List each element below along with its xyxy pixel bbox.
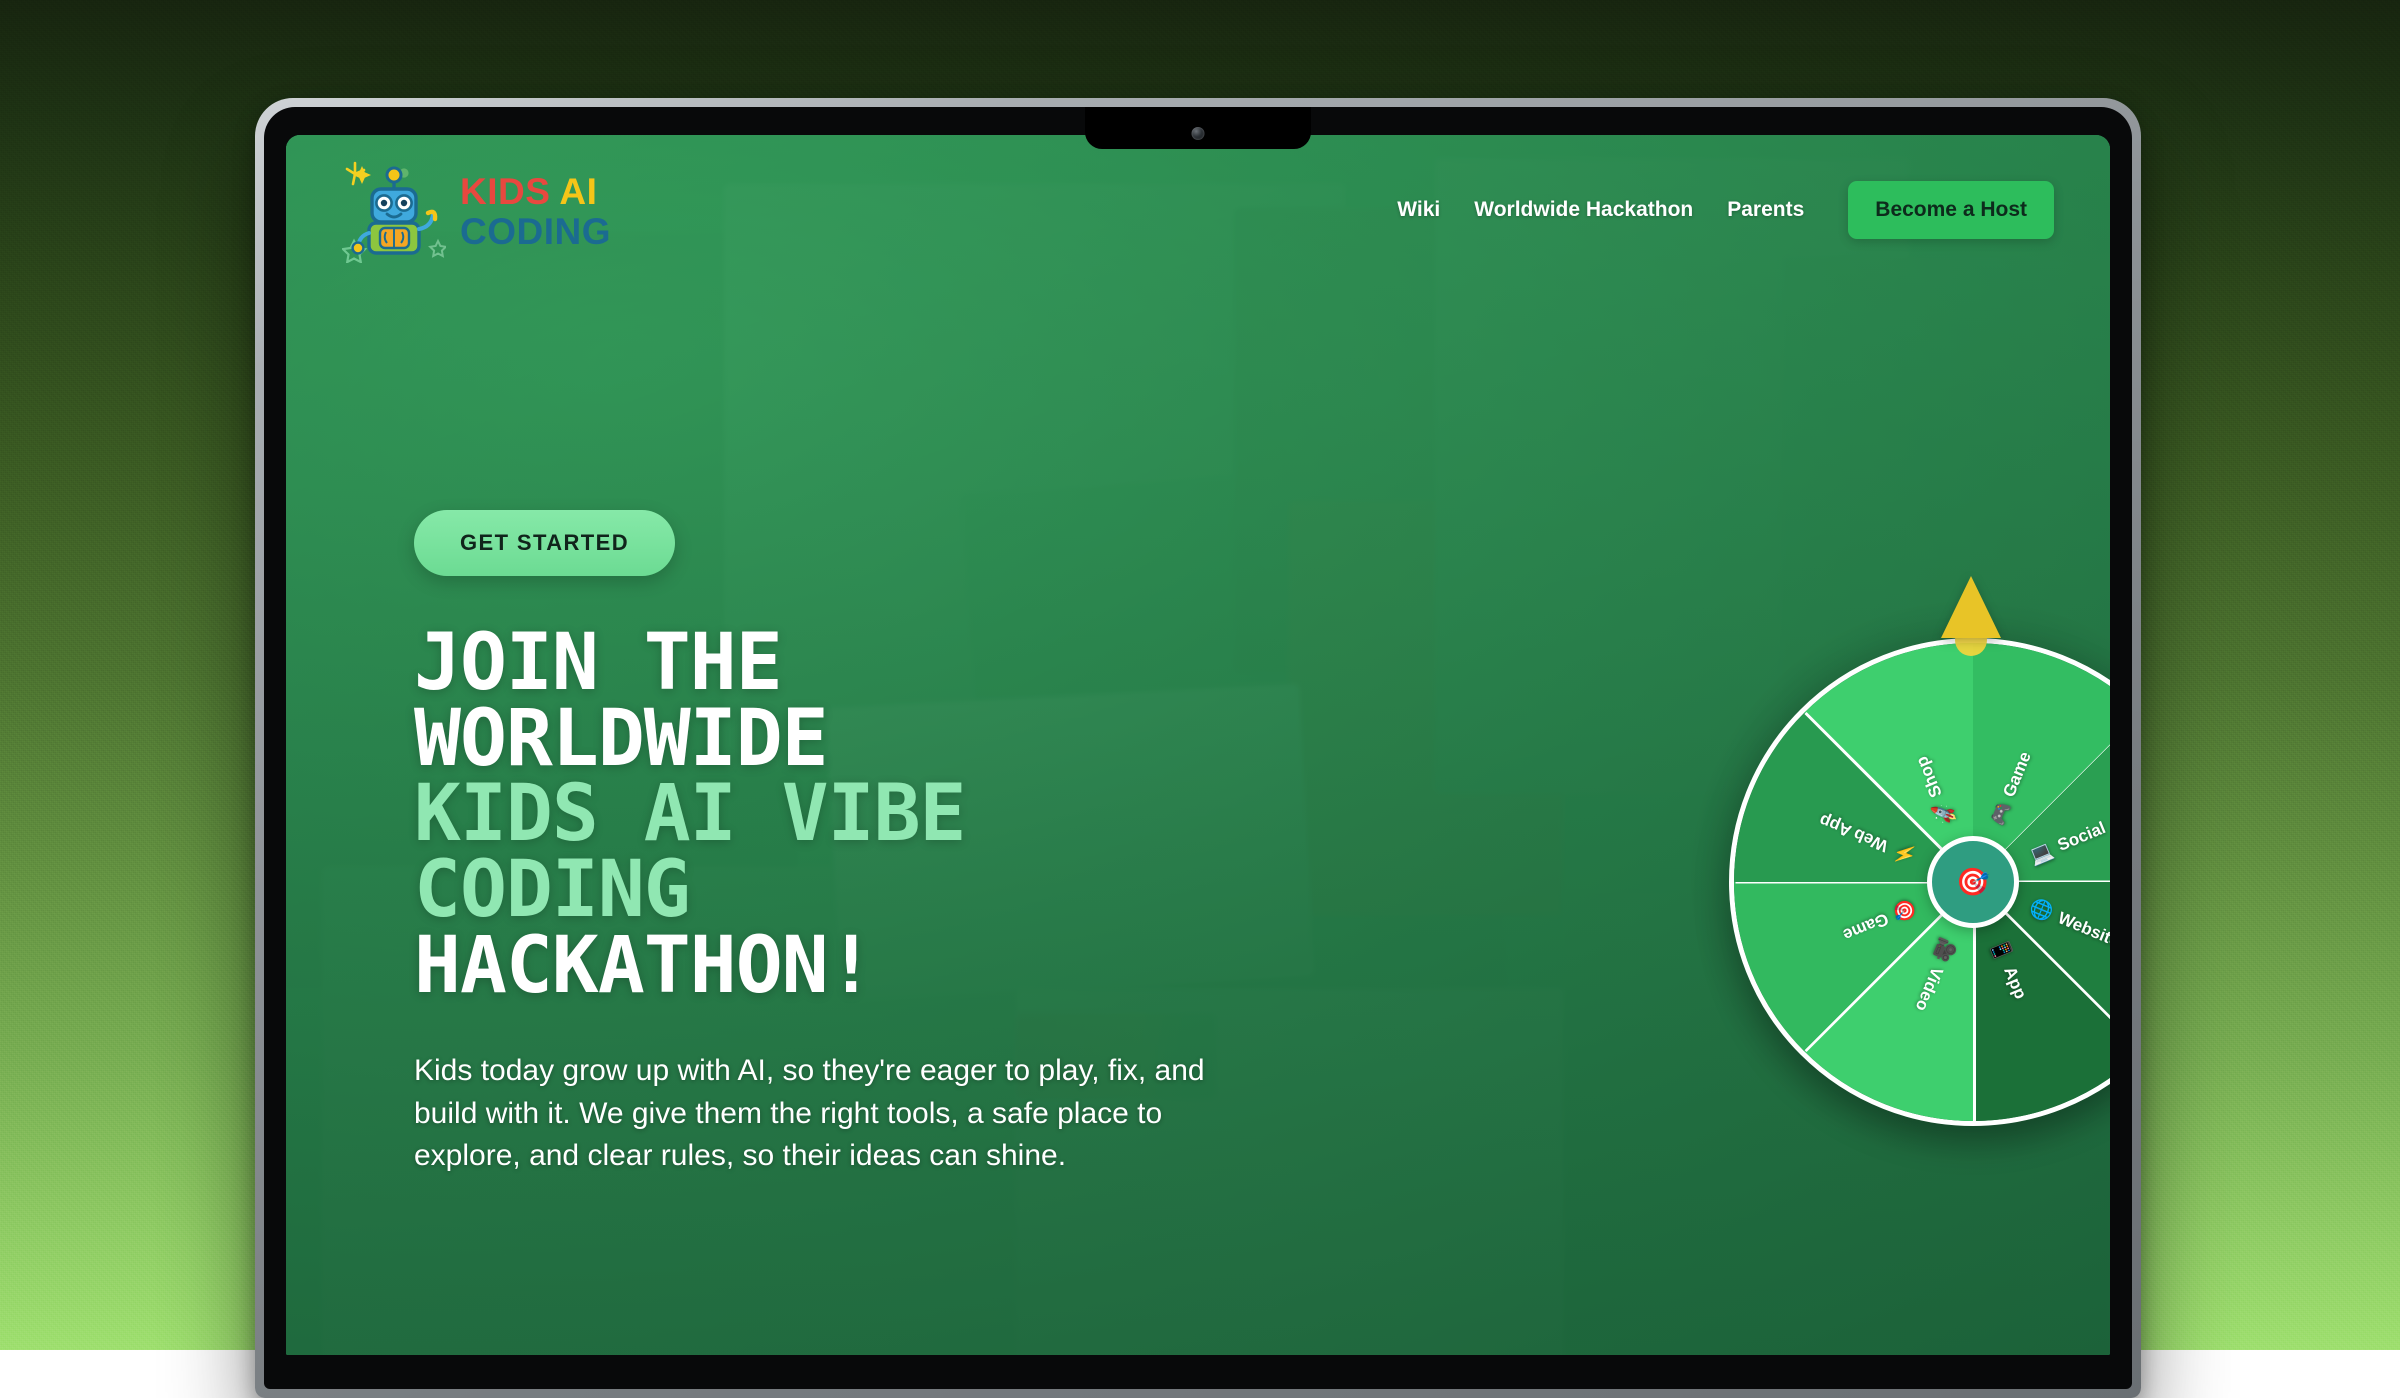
nav-link-worldwide-hackathon[interactable]: Worldwide Hackathon bbox=[1474, 198, 1693, 222]
spin-wheel[interactable]: 🎮Game💻Social🌐Website📱App🎥Video🎯Game⚡Web … bbox=[1729, 638, 2110, 1126]
site-logo[interactable]: KIDSAI CODING bbox=[342, 157, 611, 263]
logo-kids-text: KIDS bbox=[460, 171, 550, 212]
laptop-device-frame: KIDSAI CODING Wiki Worldwide Hackathon P… bbox=[255, 98, 2141, 1398]
hero-headline-line-3: CODING bbox=[414, 853, 1344, 929]
hero-section: GET STARTED JOIN THEWORLDWIDEKIDS AI VIB… bbox=[414, 510, 1344, 1178]
logo-ai-text: AI bbox=[559, 171, 597, 212]
site-header: KIDSAI CODING Wiki Worldwide Hackathon P… bbox=[286, 135, 2110, 285]
hero-headline-line-1: WORLDWIDE bbox=[414, 702, 1344, 778]
hero-headline-line-0: JOIN THE bbox=[414, 626, 1344, 702]
robot-icon bbox=[342, 157, 446, 263]
hero-paragraph: Kids today grow up with AI, so they're e… bbox=[414, 1050, 1209, 1178]
become-a-host-button[interactable]: Become a Host bbox=[1848, 181, 2054, 239]
nav-link-parents[interactable]: Parents bbox=[1727, 198, 1804, 222]
get-started-button[interactable]: GET STARTED bbox=[414, 510, 675, 576]
target-icon[interactable]: 🎯 bbox=[1927, 836, 2019, 928]
spin-wheel-widget[interactable]: 🎮Game💻Social🌐Website📱App🎥Video🎯Game⚡Web … bbox=[1691, 590, 2110, 1150]
logo-wordmark: KIDSAI CODING bbox=[460, 171, 611, 250]
laptop-bezel: KIDSAI CODING Wiki Worldwide Hackathon P… bbox=[264, 107, 2132, 1389]
main-navigation: Wiki Worldwide Hackathon Parents Become … bbox=[1397, 181, 2054, 239]
wheel-segment-shop[interactable] bbox=[1734, 643, 2110, 1121]
hero-headline: JOIN THEWORLDWIDEKIDS AI VIBECODINGHACKA… bbox=[414, 626, 1344, 1004]
logo-coding-text: CODING bbox=[460, 213, 611, 250]
wheel-pointer-icon bbox=[1941, 576, 2001, 656]
browser-screen: KIDSAI CODING Wiki Worldwide Hackathon P… bbox=[286, 135, 2110, 1355]
hero-headline-line-4: HACKATHON! bbox=[414, 929, 1344, 1005]
nav-link-wiki[interactable]: Wiki bbox=[1397, 198, 1440, 222]
laptop-notch bbox=[1085, 107, 1311, 149]
camera-icon bbox=[1192, 127, 1205, 140]
hero-headline-line-2: KIDS AI VIBE bbox=[414, 777, 1344, 853]
